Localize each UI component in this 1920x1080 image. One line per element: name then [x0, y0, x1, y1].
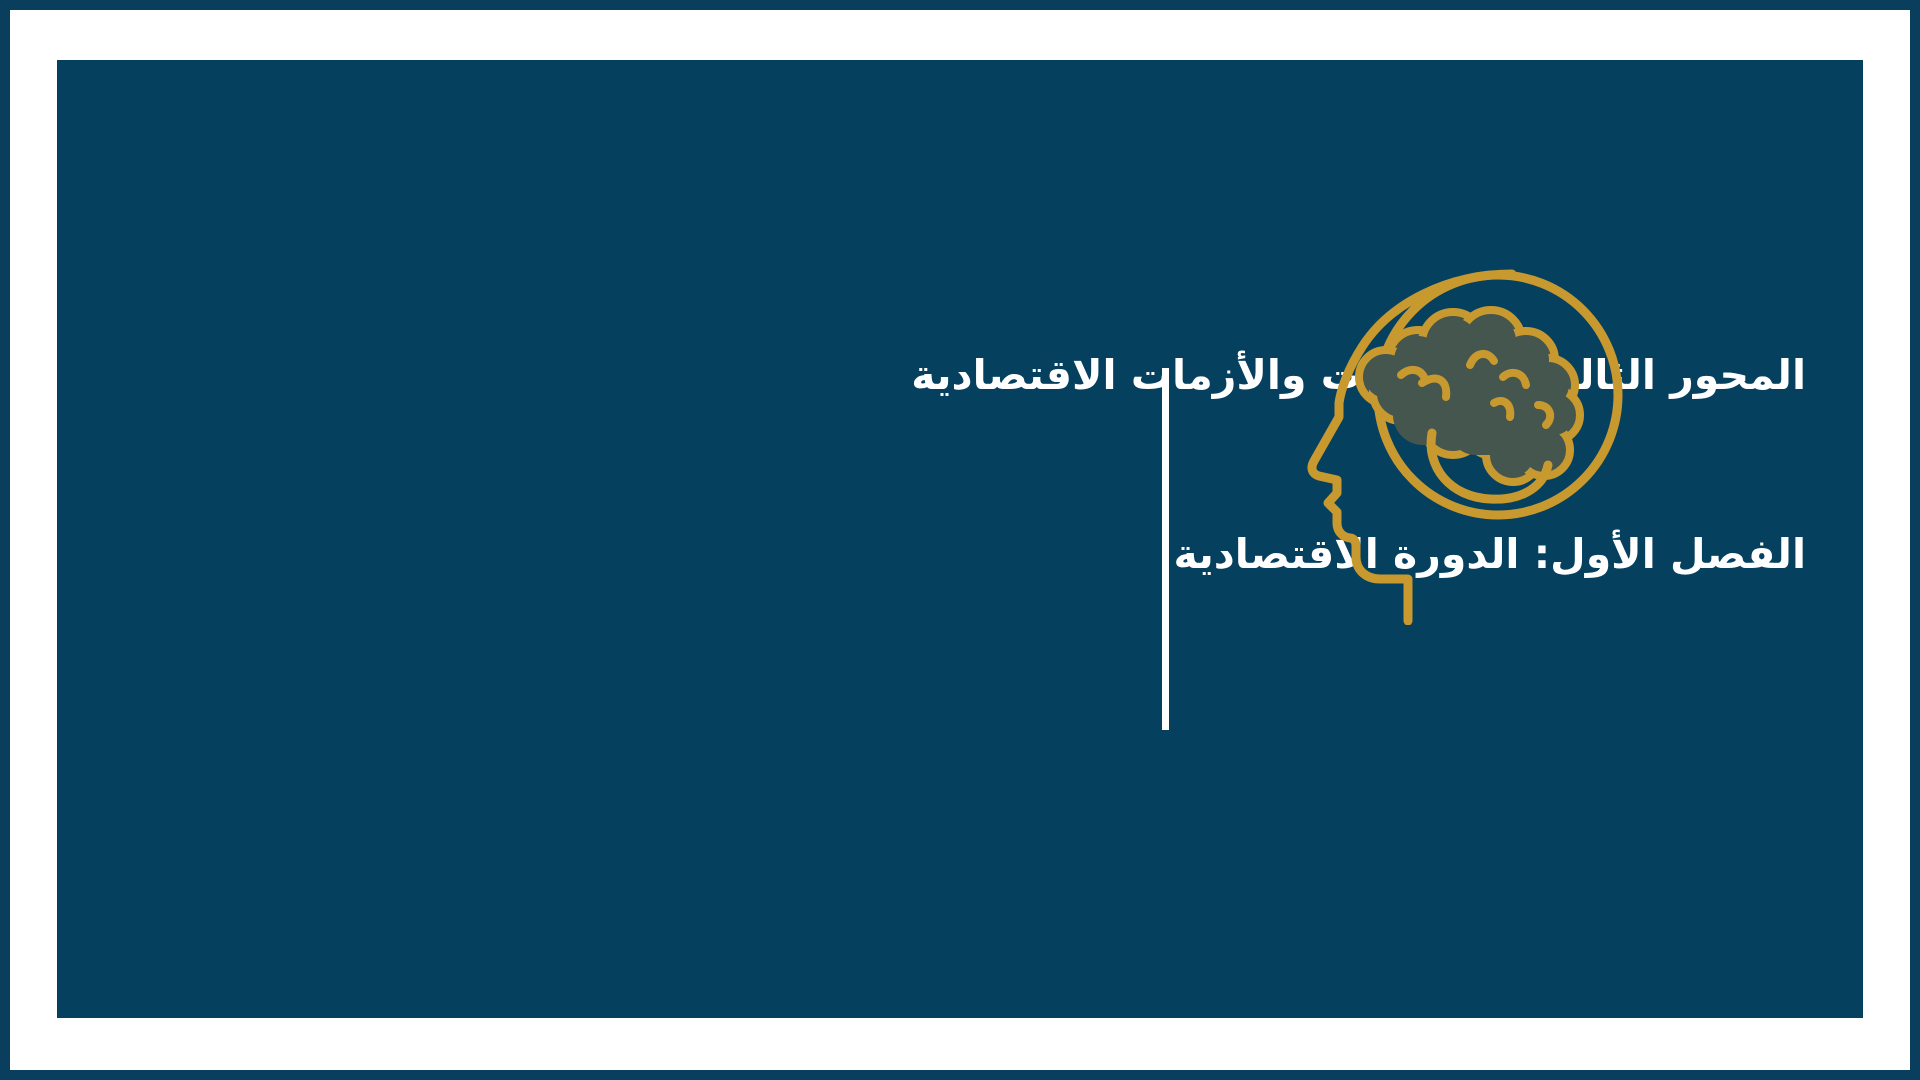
head-brain-icon [1298, 265, 1638, 625]
brain-shape [1359, 310, 1580, 499]
head-brain-icon-svg [1298, 265, 1638, 625]
vertical-divider [1162, 368, 1169, 730]
slide-root: المحور الثالث – التقلبات والأزمات الاقتص… [0, 0, 1920, 1080]
slide-content-panel: المحور الثالث – التقلبات والأزمات الاقتص… [57, 60, 1863, 1018]
